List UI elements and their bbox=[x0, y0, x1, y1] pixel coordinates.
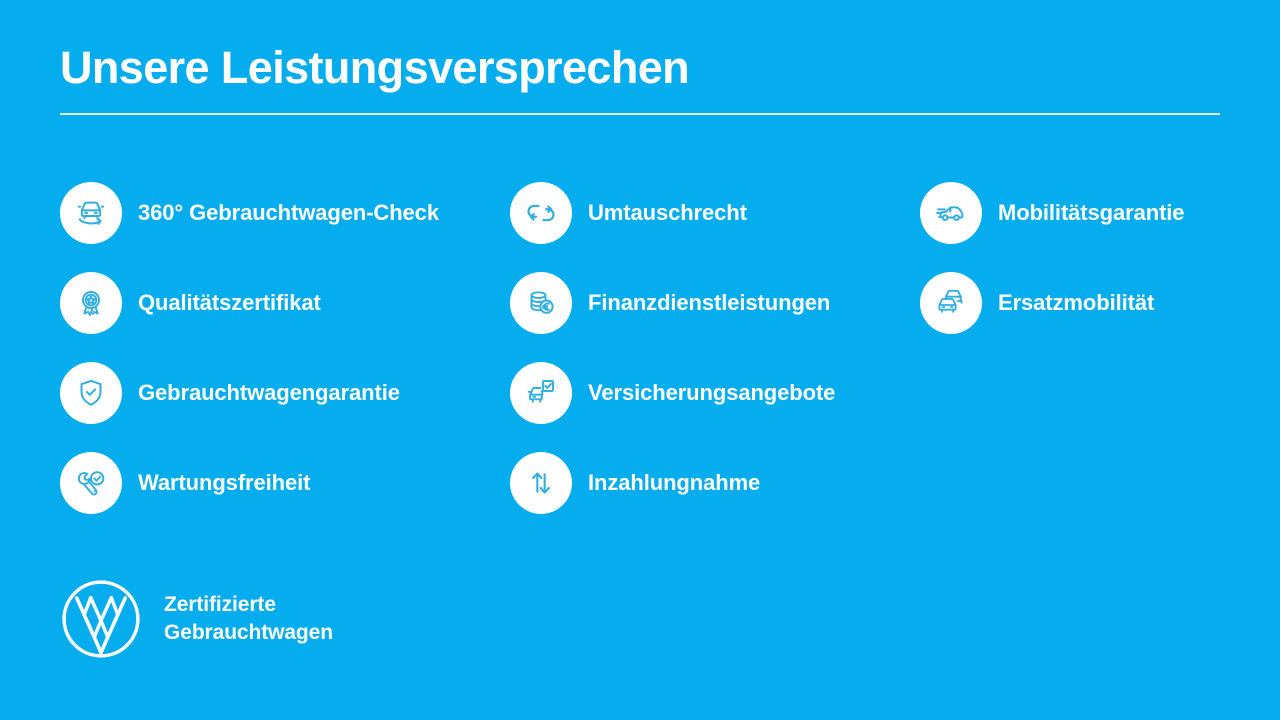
car-360-check-icon bbox=[60, 182, 122, 244]
arrows-up-down-icon bbox=[510, 452, 572, 514]
benefit-item-360-check[interactable]: 360° Gebrauchtwagen-Check bbox=[60, 181, 439, 245]
benefit-label: Ersatzmobilität bbox=[998, 291, 1154, 315]
benefit-item-gebrauchtwagengarantie[interactable]: Gebrauchtwagengarantie bbox=[60, 361, 400, 425]
benefits-column-1-cell-2: Qualitätszertifikat bbox=[60, 271, 510, 361]
benefits-row: Wartungsfreiheit Inzahlungnahme bbox=[60, 451, 1240, 541]
benefit-label: Finanzdienstleistungen bbox=[588, 291, 830, 315]
benefits-column-1-cell-4: Wartungsfreiheit bbox=[60, 451, 510, 541]
header: Unsere Leistungsversprechen bbox=[60, 44, 1220, 115]
benefits-column-2-cell-1: Umtauschrecht bbox=[510, 181, 920, 271]
benefit-item-ersatzmobilitaet[interactable]: Ersatzmobilität bbox=[920, 271, 1154, 335]
benefit-label: Wartungsfreiheit bbox=[138, 471, 310, 495]
award-rosette-icon bbox=[60, 272, 122, 334]
slide-root: Unsere Leistungsversprechen bbox=[0, 0, 1280, 720]
benefit-item-versicherungsangebote[interactable]: Versicherungsangebote bbox=[510, 361, 835, 425]
benefit-item-mobilitaetsgarantie[interactable]: Mobilitätsgarantie bbox=[920, 181, 1184, 245]
benefits-column-3-cell-2: Ersatzmobilität bbox=[920, 271, 1240, 361]
car-motion-icon bbox=[920, 182, 982, 244]
benefit-label: Inzahlungnahme bbox=[588, 471, 760, 495]
brand-text: Zertifizierte Gebrauchtwagen bbox=[164, 591, 333, 646]
car-checkbox-icon bbox=[510, 362, 572, 424]
benefits-row: Gebrauchtwagengarantie bbox=[60, 361, 1240, 451]
two-cars-icon bbox=[920, 272, 982, 334]
benefits-grid: 360° Gebrauchtwagen-Check Umtauschrecht bbox=[60, 181, 1240, 541]
page-title: Unsere Leistungsversprechen bbox=[60, 44, 1220, 92]
benefit-label: Umtauschrecht bbox=[588, 201, 747, 225]
benefit-label: Versicherungsangebote bbox=[588, 381, 835, 405]
brand-line-1: Zertifizierte bbox=[164, 591, 333, 619]
benefits-row: 360° Gebrauchtwagen-Check Umtauschrecht bbox=[60, 181, 1240, 271]
wrench-check-icon bbox=[60, 452, 122, 514]
brand-line-2: Gebrauchtwagen bbox=[164, 619, 333, 647]
benefit-label: Mobilitätsgarantie bbox=[998, 201, 1184, 225]
coins-euro-icon bbox=[510, 272, 572, 334]
shield-check-icon bbox=[60, 362, 122, 424]
benefit-item-wartungsfreiheit[interactable]: Wartungsfreiheit bbox=[60, 451, 310, 515]
benefit-label: Gebrauchtwagengarantie bbox=[138, 381, 400, 405]
benefit-item-qualitaetszertifikat[interactable]: Qualitätszertifikat bbox=[60, 271, 321, 335]
brand-lockup: Zertifizierte Gebrauchtwagen bbox=[60, 578, 333, 660]
benefits-column-1-cell-1: 360° Gebrauchtwagen-Check bbox=[60, 181, 510, 271]
benefits-column-2-cell-3: Versicherungsangebote bbox=[510, 361, 920, 451]
benefit-label: 360° Gebrauchtwagen-Check bbox=[138, 201, 439, 225]
exchange-arrows-icon bbox=[510, 182, 572, 244]
benefits-column-3-cell-1: Mobilitätsgarantie bbox=[920, 181, 1240, 271]
benefit-label: Qualitätszertifikat bbox=[138, 291, 321, 315]
volkswagen-logo-icon bbox=[60, 578, 142, 660]
benefit-item-inzahlungnahme[interactable]: Inzahlungnahme bbox=[510, 451, 760, 515]
benefits-row: Qualitätszertifikat bbox=[60, 271, 1240, 361]
benefits-column-1-cell-3: Gebrauchtwagengarantie bbox=[60, 361, 510, 451]
benefits-column-2-cell-4: Inzahlungnahme bbox=[510, 451, 920, 541]
benefit-item-finanzdienstleistungen[interactable]: Finanzdienstleistungen bbox=[510, 271, 830, 335]
benefits-column-2-cell-2: Finanzdienstleistungen bbox=[510, 271, 920, 361]
title-divider bbox=[60, 113, 1220, 115]
benefit-item-umtauschrecht[interactable]: Umtauschrecht bbox=[510, 181, 747, 245]
